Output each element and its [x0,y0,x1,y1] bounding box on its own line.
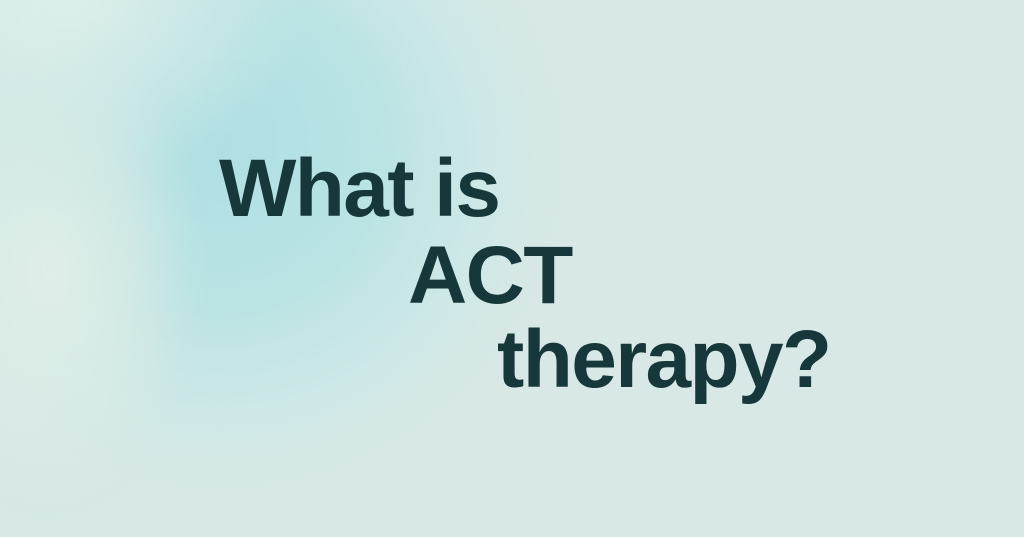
title-card: What is ACT therapy? [0,0,1024,537]
headline-line-3: therapy? [497,319,831,401]
headline-block: What is ACT therapy? [0,0,1024,537]
headline-line-1: What is [219,148,499,230]
headline-line-2: ACT [408,235,572,317]
